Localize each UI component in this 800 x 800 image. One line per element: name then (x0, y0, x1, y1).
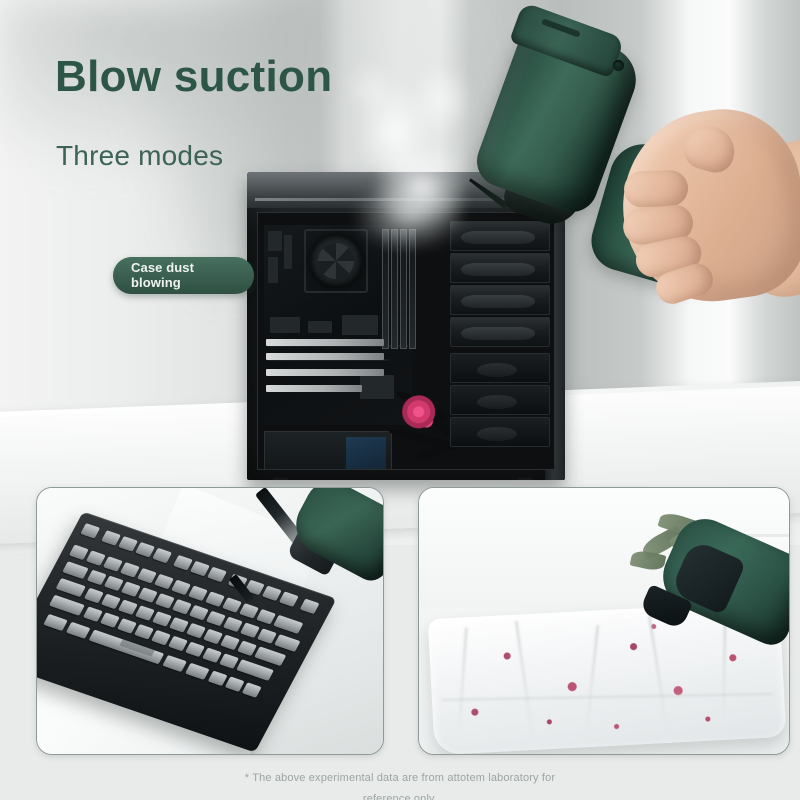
drive-bay (450, 317, 550, 347)
pc-case-foot (273, 478, 289, 480)
psu-brand-label (346, 437, 386, 470)
page-subtitle: Three modes (56, 140, 223, 172)
drive-bay (450, 417, 550, 447)
product-infographic: Blow suction Three modes Case dust blowi… (0, 0, 800, 800)
drive-bay (450, 385, 550, 415)
label-case-dust-blowing: Case dust blowing (113, 257, 254, 294)
pci-slot (266, 339, 384, 346)
blower-side-port (613, 60, 624, 71)
pci-slot (266, 369, 384, 376)
drive-bay (450, 353, 550, 383)
pc-case-foot (517, 478, 533, 480)
page-title: Blow suction (55, 52, 332, 102)
handheld-air-blower (455, 15, 800, 315)
panel-keyboard-dust-absorption: Keyboard dust absorption (36, 487, 384, 755)
vacuum-body (286, 487, 384, 586)
handheld-vacuum-bag (605, 534, 790, 664)
pci-slot (266, 385, 362, 392)
hand (611, 99, 800, 312)
red-cable-coil (398, 395, 444, 437)
disclaimer-text: * The above experimental data are from a… (0, 768, 800, 800)
handheld-vacuum-keyboard (261, 492, 384, 612)
pci-slot (266, 353, 384, 360)
panel-vacuum: Vacuum (418, 487, 790, 755)
